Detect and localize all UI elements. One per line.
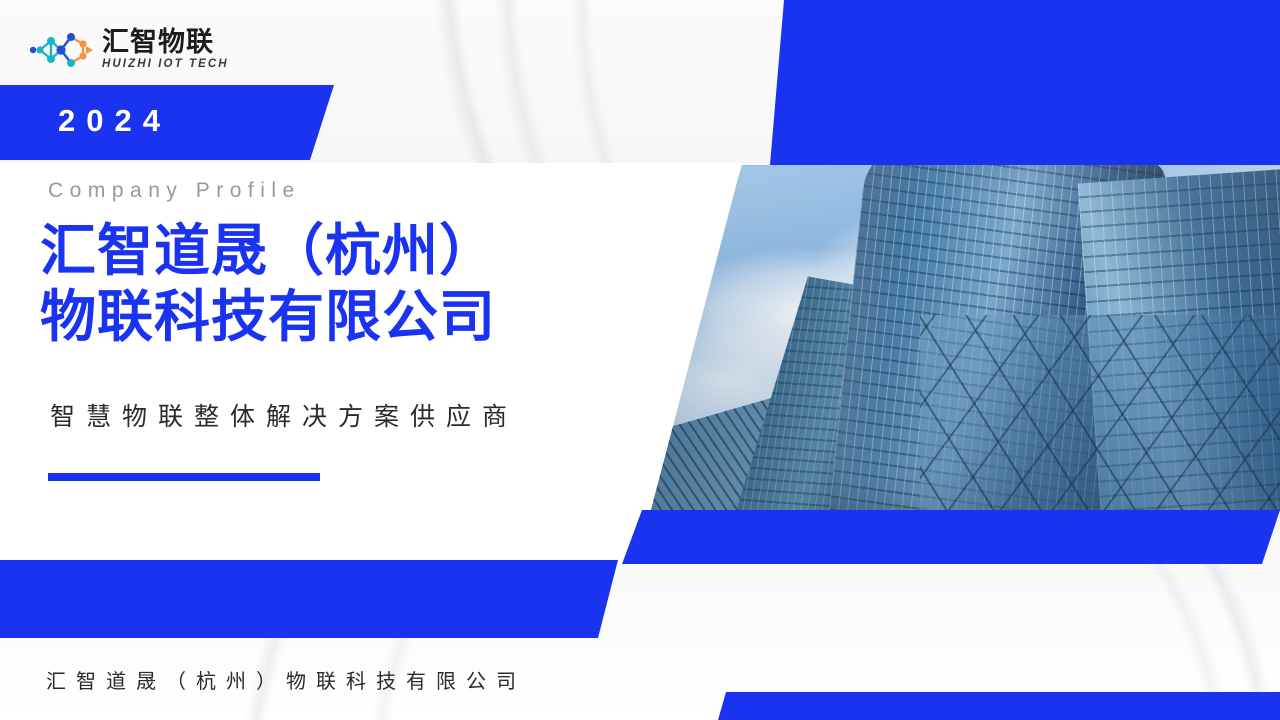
year-label: 2024 xyxy=(58,105,171,136)
eyebrow-company-profile: Company Profile xyxy=(48,180,301,201)
blue-accent-under-photo xyxy=(622,510,1280,564)
blue-accent-left-band xyxy=(0,560,618,638)
title-underline-rule xyxy=(48,473,320,481)
subtitle-tagline: 智慧物联整体解决方案供应商 xyxy=(50,405,518,430)
molecule-network-icon xyxy=(28,26,94,74)
logo-wordmark: 汇智物联 HUIZHI IOT TECH xyxy=(102,29,229,71)
page-title-line-2: 物联科技有限公司 xyxy=(40,284,700,350)
footer-company-name: 汇智道晟（杭州）物联科技有限公司 xyxy=(46,672,526,692)
blue-accent-bottom-right xyxy=(718,692,1280,720)
logo-chinese-name: 汇智物联 xyxy=(102,29,229,57)
page-title: 汇智道晟（杭州） 物联科技有限公司 xyxy=(40,218,700,350)
company-logo[interactable]: 汇智物联 HUIZHI IOT TECH xyxy=(28,22,228,78)
page-title-line-1: 汇智道晟（杭州） xyxy=(40,218,700,284)
content-white-panel-lower xyxy=(0,508,700,568)
logo-english-name: HUIZHI IOT TECH xyxy=(102,58,229,71)
blue-accent-top-right xyxy=(770,0,1280,165)
presentation-slide: 汇智物联 HUIZHI IOT TECH 2024 Company Profil… xyxy=(0,0,1280,720)
